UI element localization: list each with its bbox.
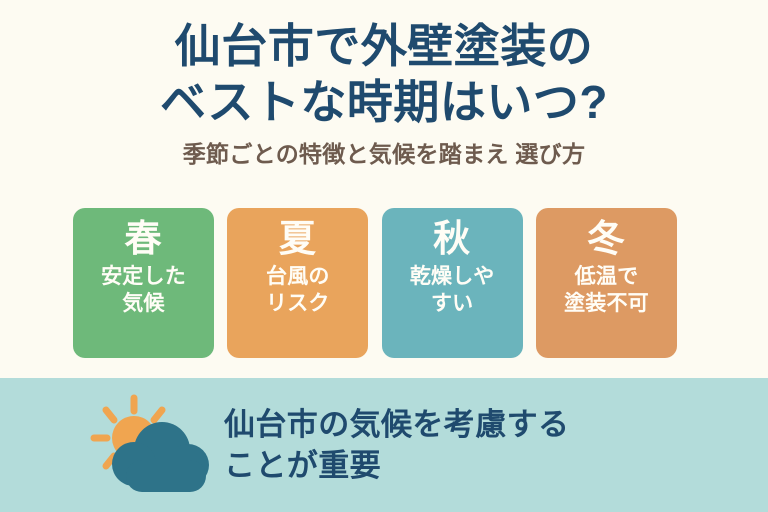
season-description-summer-line-1: 台風の: [266, 263, 330, 290]
season-card-winter: 冬 低温で 塗装不可: [536, 208, 677, 358]
season-description-autumn-line-2: すい: [410, 290, 495, 317]
page-title-line-1: 仙台市で外壁塗装の: [0, 18, 768, 74]
season-label-autumn: 秋: [433, 217, 471, 261]
season-description-spring: 安定した 気候: [97, 263, 190, 317]
season-description-autumn-line-1: 乾燥しや: [410, 263, 495, 290]
season-card-spring: 春 安定した 気候: [73, 208, 214, 358]
season-label-spring: 春: [125, 217, 163, 261]
season-description-spring-line-2: 気候: [101, 290, 186, 317]
season-label-summer: 夏: [279, 217, 317, 261]
sun-behind-cloud-icon: [84, 392, 216, 502]
climate-callout-text: 仙台市の気候を考慮する ことが重要: [224, 404, 569, 486]
season-description-winter-line-2: 塗装不可: [564, 290, 649, 317]
page-subtitle: 季節ごとの特徴と気候を踏まえ 選び方: [0, 139, 768, 169]
climate-callout-line-1: 仙台市の気候を考慮する: [224, 404, 569, 445]
season-description-spring-line-1: 安定した: [101, 263, 186, 290]
season-description-summer-line-2: リスク: [266, 290, 330, 317]
season-label-winter: 冬: [587, 217, 625, 261]
season-card-summer: 夏 台風の リスク: [227, 208, 368, 358]
season-description-autumn: 乾燥しや すい: [406, 263, 499, 317]
climate-callout-line-2: ことが重要: [224, 445, 569, 486]
header-block: 仙台市で外壁塗装の ベストな時期はいつ? 季節ごとの特徴と気候を踏まえ 選び方: [0, 18, 768, 169]
season-card-autumn: 秋 乾燥しや すい: [382, 208, 523, 358]
season-card-row: 春 安定した 気候 夏 台風の リスク 秋 乾燥しや すい 冬 低温で: [73, 208, 677, 358]
climate-callout-banner: 仙台市の気候を考慮する ことが重要: [0, 378, 768, 512]
season-description-winter: 低温で 塗装不可: [560, 263, 653, 317]
page-title-line-2: ベストな時期はいつ?: [0, 74, 768, 130]
infographic-canvas: 仙台市で外壁塗装の ベストな時期はいつ? 季節ごとの特徴と気候を踏まえ 選び方 …: [0, 0, 768, 512]
season-description-winter-line-1: 低温で: [564, 263, 649, 290]
season-description-summer: 台風の リスク: [262, 263, 334, 317]
